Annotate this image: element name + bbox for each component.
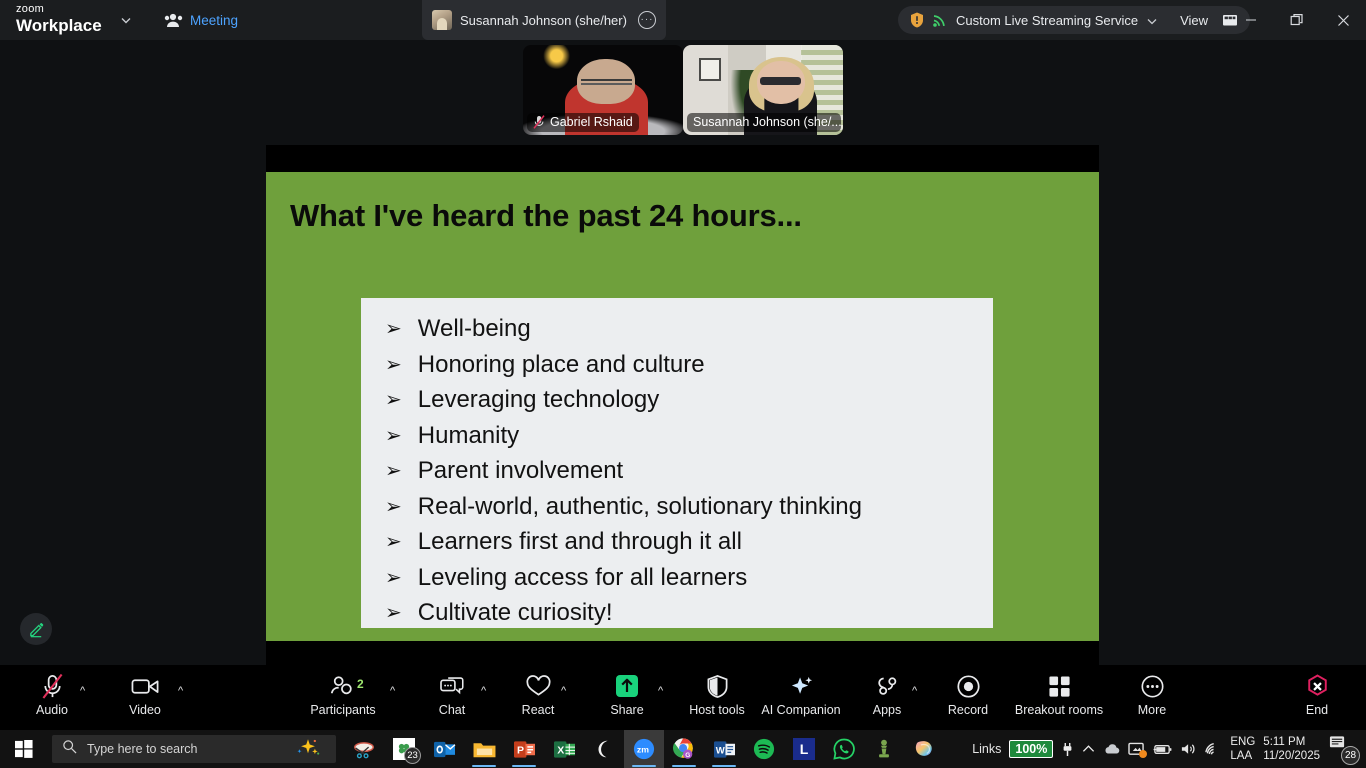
toolbar-button-audio[interactable]: Audio [28,671,76,725]
presentation-slide: What I've heard the past 24 hours... ➢We… [266,172,1099,641]
taskbar-app-camtasia[interactable] [584,730,624,768]
apps-options-caret[interactable]: ^ [912,685,917,697]
taskbar-running-indicator [712,765,736,768]
toolbar-label-share: Share [610,703,643,717]
video-filmstrip: Gabriel Rshaid Susannah Johnson (she/... [0,40,1366,145]
toolbar-label-react: React [522,703,555,717]
live-stream-label: Custom Live Streaming Service [956,13,1138,28]
taskbar-app-chess[interactable] [864,730,904,768]
live-streaming-indicator[interactable]: Custom Live Streaming Service View [898,6,1250,34]
ellipsis-icon [1140,671,1165,701]
tab-meeting[interactable]: Meeting [164,8,238,32]
slide-bullet-item: ➢Learners first and through it all [373,525,993,561]
camera-icon [131,671,160,701]
chat-icon [439,671,466,701]
participants-options-caret[interactable]: ^ [390,685,395,697]
toolbar-button-chat[interactable]: Chat [428,671,476,725]
slide-bullet-text: Learners first and through it all [418,525,742,559]
tab-overflow-icon[interactable]: ··· [638,11,656,29]
share-letterbox-bottom [266,641,1099,665]
volume-icon[interactable] [1180,742,1197,756]
taskbar-running-indicator [472,765,496,768]
view-button-label[interactable]: View [1180,13,1208,28]
broadcast-icon [932,13,948,27]
chat-options-caret[interactable]: ^ [481,685,486,697]
power-plug-icon[interactable] [1061,742,1074,757]
taskbar-app-copilot[interactable] [904,730,944,768]
chevron-down-icon[interactable] [119,13,133,27]
slide-bullet-item: ➢Well-being [373,312,993,348]
taskbar-app-powerpoint[interactable]: P [504,730,544,768]
bullet-arrow-icon: ➢ [385,455,402,489]
toolbar-label-participants: Participants [310,703,375,717]
slide-bullet-item: ➢Parent involvement [373,454,993,490]
share-letterbox-top [266,145,1099,172]
window-close-button[interactable] [1320,0,1366,40]
slide-bullet-list: ➢Well-being➢Honoring place and culture➢L… [361,298,993,632]
participants-count-badge: 2 [357,677,364,691]
toolbar-button-more[interactable]: More [1126,671,1178,725]
annotate-pencil-button[interactable] [20,613,52,645]
end-call-icon [1305,671,1330,701]
slide-bullet-text: Leveraging technology [418,383,660,417]
window-controls [1228,0,1366,40]
taskbar-app-clover[interactable]: 23 [384,730,424,768]
system-tray: Links 100% [972,730,1362,768]
slide-bullet-text: Humanity [418,419,519,453]
slide-bullet-text: Real-world, authentic, solutionary think… [418,490,862,524]
grid-icon [1048,671,1071,701]
toolbar-label-apps: Apps [873,703,902,717]
sparkle-icon [788,671,815,701]
bullet-arrow-icon: ➢ [385,526,402,560]
record-icon [956,671,981,701]
slide-bullet-item: ➢Honoring place and culture [373,348,993,384]
brand-workplace: Workplace [16,17,102,34]
tray-expand-chevron-icon[interactable] [1082,744,1095,754]
microphone-muted-icon [40,671,65,701]
heart-icon [525,671,552,701]
participant-name-badge: Gabriel Rshaid [527,113,639,132]
bullet-arrow-icon: ➢ [385,562,402,596]
svg-text:P: P [517,744,524,756]
wifi-icon[interactable] [1205,742,1222,756]
taskbar-app-whatsapp[interactable] [824,730,864,768]
participants-icon [164,13,182,27]
toolbar-label-chat: Chat [439,703,465,717]
brand-zoom: zoom [16,4,102,15]
search-input[interactable]: Type here to search [52,735,336,763]
search-icon [62,739,77,759]
windows-start-button[interactable] [8,734,40,764]
toolbar-button-host-tools[interactable]: Host tools [686,671,748,725]
tab-active-title: Susannah Johnson (she/her) Indiv [460,13,630,28]
shield-warning-icon [910,12,924,28]
taskbar-app-spotify[interactable] [744,730,784,768]
language-indicator[interactable]: ENG LAA [1230,735,1255,763]
slide-bullet-text: Cultivate curiosity! [418,596,613,630]
taskbar-app-lastpass[interactable]: L [784,730,824,768]
participant-name-badge: Susannah Johnson (she/... [687,113,841,132]
toolbar-button-apps[interactable]: Apps [862,671,912,725]
toolbar-button-share[interactable]: Share [600,671,654,725]
tab-active-meeting[interactable]: Susannah Johnson (she/her) Indiv ··· [422,0,666,40]
taskbar-app-word[interactable]: W [704,730,744,768]
slide-bullet-text: Well-being [418,312,531,346]
toolbar-label-audio: Audio [36,703,68,717]
taskbar-app-snip-and-sketch[interactable] [344,730,384,768]
taskbar-app-file-explorer[interactable] [464,730,504,768]
bullet-arrow-icon: ➢ [385,349,402,383]
toolbar-label-record: Record [948,703,988,717]
chevron-down-icon[interactable] [1146,14,1158,26]
toolbar-button-ai-companion[interactable]: AI Companion [756,671,846,725]
battery-icon[interactable] [1153,743,1172,756]
react-options-caret[interactable]: ^ [561,685,566,697]
microphone-muted-icon [533,115,545,129]
bullet-arrow-icon: ➢ [385,597,402,631]
clock-time: 5:11 PM [1263,735,1305,749]
tab-meeting-label: Meeting [190,13,238,28]
toolbar-label-video: Video [129,703,161,717]
shield-icon [706,671,729,701]
notification-center-button[interactable]: 28 [1328,734,1358,764]
slide-bullet-text: Honoring place and culture [418,348,705,382]
svg-text:zm: zm [637,745,649,755]
copilot-sparkle-icon[interactable] [293,737,323,762]
apps-icon [874,671,901,701]
zoom-meeting-window: zoom Workplace Meeting Susannah Johnson … [0,0,1366,768]
toolbar-button-participants[interactable]: Participants [308,671,378,725]
svg-text:G: G [685,752,690,759]
slide-bullet-text: Parent involvement [418,454,623,488]
window-minimize-button[interactable] [1228,0,1274,40]
video-options-caret[interactable]: ^ [178,685,183,697]
toolbar-label-ai-companion: AI Companion [761,703,840,717]
video-tile-susannah[interactable]: Susannah Johnson (she/... [683,45,843,135]
avatar [432,10,452,30]
participant-name: Gabriel Rshaid [550,115,633,129]
taskbar-app-list: 23 P [344,730,944,768]
battery-percent-badge[interactable]: 100% [1009,740,1053,758]
toolbar-button-end[interactable]: End [1293,671,1341,725]
toolbar-label-end: End [1306,703,1328,717]
taskbar-app-chrome[interactable]: G [664,730,704,768]
toolbar-button-react[interactable]: React [512,671,564,725]
taskbar-running-indicator [632,765,656,768]
share-options-caret[interactable]: ^ [658,685,663,697]
clock[interactable]: 5:11 PM 11/20/2025 [1263,735,1320,763]
taskbar-running-indicator [512,765,536,768]
taskbar-badge-clover: 23 [404,747,421,764]
share-screen-icon [614,671,640,701]
svg-text:W: W [715,745,724,756]
participant-name: Susannah Johnson (she/... [693,115,841,129]
toolbar-label-more: More [1138,703,1166,717]
slide-bullet-item: ➢Leveling access for all learners [373,561,993,597]
toolbar-button-breakout-rooms[interactable]: Breakout rooms [1004,671,1114,725]
windows-taskbar: Type here to search [0,730,1366,768]
tray-links-label[interactable]: Links [972,742,1001,756]
taskbar-app-outlook[interactable] [424,730,464,768]
meeting-toolbar: Audio ^ Video ^ Participants 2 [0,665,1366,730]
bullet-arrow-icon: ➢ [385,384,402,418]
bullet-arrow-icon: ➢ [385,313,402,347]
bullet-arrow-icon: ➢ [385,420,402,454]
slide-content-box: ➢Well-being➢Honoring place and culture➢L… [356,298,993,628]
window-restore-button[interactable] [1274,0,1320,40]
toolbar-button-video[interactable]: Video [120,671,170,725]
participants-icon [330,671,357,701]
toolbar-label-breakout-rooms: Breakout rooms [1015,703,1103,717]
taskbar-running-indicator [672,765,696,768]
search-placeholder: Type here to search [87,742,197,756]
title-bar: zoom Workplace Meeting Susannah Johnson … [0,0,1366,40]
slide-title: What I've heard the past 24 hours... [290,198,802,234]
bullet-arrow-icon: ➢ [385,491,402,525]
toolbar-label-host-tools: Host tools [689,703,745,717]
slide-bullet-item: ➢Leveraging technology [373,383,993,419]
display-settings-icon[interactable] [1128,742,1145,757]
shared-screen-area: What I've heard the past 24 hours... ➢We… [0,145,1366,665]
display-alert-dot [1139,750,1147,758]
zoom-workplace-logo: zoom Workplace [16,4,102,34]
clock-date: 11/20/2025 [1263,749,1320,763]
slide-bullet-item: ➢Real-world, authentic, solutionary thin… [373,490,993,526]
slide-bullet-item: ➢Humanity [373,419,993,455]
taskbar-app-excel[interactable]: X [544,730,584,768]
onedrive-cloud-icon[interactable] [1103,743,1120,755]
language-line-1: ENG [1230,735,1255,749]
taskbar-app-zoom[interactable]: zm [624,730,664,768]
slide-bullet-item: ➢Cultivate curiosity! [373,596,993,632]
video-tile-gabriel[interactable]: Gabriel Rshaid [523,45,683,135]
language-line-2: LAA [1230,749,1252,763]
slide-bullet-text: Leveling access for all learners [418,561,748,595]
toolbar-button-record[interactable]: Record [940,671,996,725]
audio-options-caret[interactable]: ^ [80,685,85,697]
svg-text:X: X [557,744,564,756]
notification-count-badge: 28 [1341,746,1360,765]
